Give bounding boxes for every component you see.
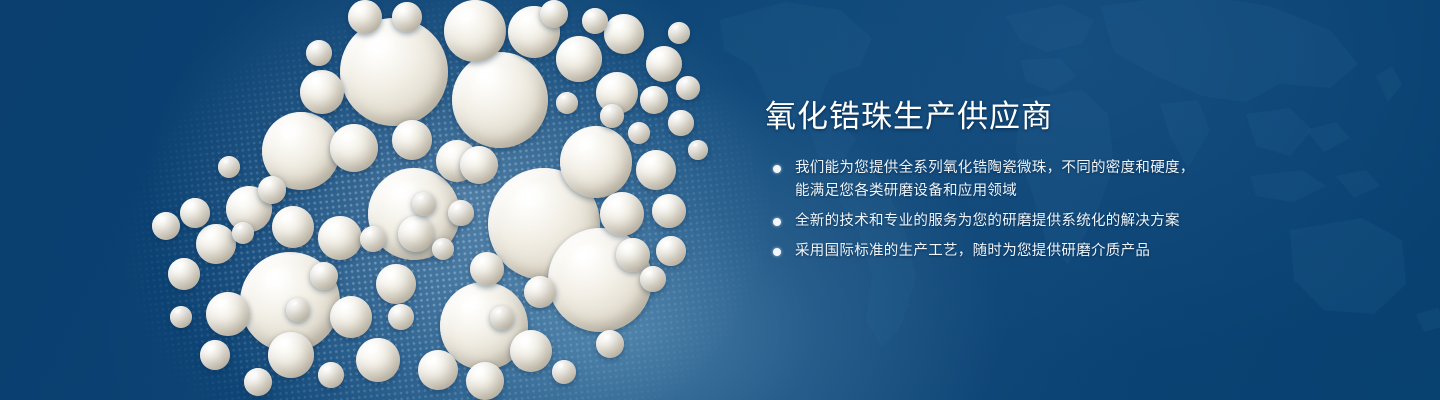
hero-banner: 氧化锆珠生产供应商 我们能为您提供全系列氧化锆陶瓷微珠，不同的密度和硬度， 能满… <box>0 0 1440 400</box>
list-item: 采用国际标准的生产工艺，随时为您提供研磨介质产品 <box>765 240 1385 263</box>
list-item: 全新的技术和专业的服务为您的研磨提供系统化的解决方案 <box>765 210 1385 233</box>
bullet-text-line: 能满足您各类研磨设备和应用领域 <box>795 180 1385 203</box>
feature-list: 我们能为您提供全系列氧化锆陶瓷微珠，不同的密度和硬度， 能满足您各类研磨设备和应… <box>765 157 1385 263</box>
bullet-text-line: 全新的技术和专业的服务为您的研磨提供系统化的解决方案 <box>795 210 1385 233</box>
bullet-dot-icon <box>773 248 781 256</box>
bullet-dot-icon <box>773 218 781 226</box>
banner-text-block: 氧化锆珠生产供应商 我们能为您提供全系列氧化锆陶瓷微珠，不同的密度和硬度， 能满… <box>765 100 1385 263</box>
banner-headline: 氧化锆珠生产供应商 <box>765 100 1385 135</box>
bullet-dot-icon <box>773 165 781 173</box>
bullet-text-line: 采用国际标准的生产工艺，随时为您提供研磨介质产品 <box>795 240 1385 263</box>
list-item: 我们能为您提供全系列氧化锆陶瓷微珠，不同的密度和硬度， 能满足您各类研磨设备和应… <box>765 157 1385 203</box>
bullet-text-line: 我们能为您提供全系列氧化锆陶瓷微珠，不同的密度和硬度， <box>795 157 1385 180</box>
